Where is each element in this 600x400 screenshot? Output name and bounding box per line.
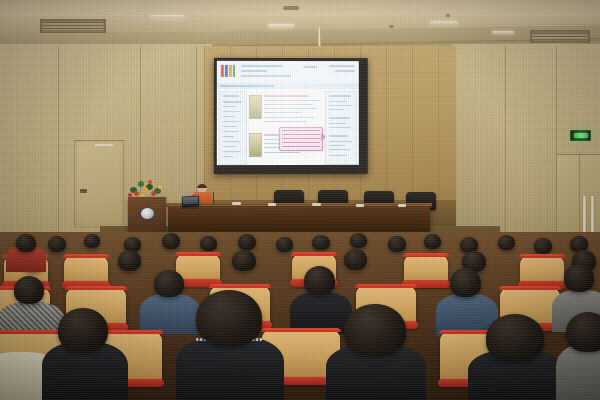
ceiling-sensor-icon [446,14,450,17]
audience-shoulders [556,344,600,400]
exit-sign [570,130,591,141]
audience-head [58,308,108,352]
audience-head [424,234,441,249]
audience-head [486,314,544,362]
audience-head [350,233,367,248]
audience-head [276,237,293,252]
presenter-laptop [182,195,199,207]
audience-head [312,235,330,250]
audience-head [534,238,552,254]
auditorium-seat[interactable] [64,256,108,286]
callout-text-rows [282,130,320,148]
auditorium-seat[interactable] [404,255,448,285]
audience-head [388,236,406,252]
audience-head [200,236,217,251]
microphone-stand [213,192,214,205]
ceiling-light [150,15,184,19]
audience-head [14,276,44,304]
audience-head [48,236,66,252]
audience-head [118,250,141,271]
ceiling-sensor-icon [389,25,394,28]
desk-paper [232,202,241,205]
door-handle-icon[interactable] [80,189,87,193]
audience-head [498,235,515,250]
ceiling-light [492,31,514,34]
ceiling-light [268,24,294,28]
exit-sign-glow [574,133,588,138]
projection-screen [217,61,359,165]
slide-header [217,61,359,84]
slide-thumbnail-image [249,95,262,119]
auditorium-photo [0,0,600,400]
wall-seam [58,46,59,236]
audience-head [196,290,262,346]
desk-paper [268,203,276,206]
audience-head [162,233,180,249]
auditorium-seat[interactable] [520,256,564,286]
slide-thumbnail-image [249,133,262,157]
door-plate [95,144,113,146]
air-vent-icon [40,19,106,33]
desk-paper [312,203,321,206]
ceiling-speaker-icon [283,6,299,10]
audience-head [232,250,256,271]
side-door[interactable] [74,140,124,228]
audience-head [238,234,256,250]
audience-head [566,312,600,352]
audience-head [344,249,367,270]
podium-emblem-icon [140,207,155,220]
laptop-screen [183,196,198,204]
desk-paper [356,204,364,207]
slide-callout-box [279,127,323,151]
site-logo-icon [221,65,235,77]
audience-head [84,234,100,248]
audience-head [450,268,481,297]
slide-right-sidebar [325,91,357,165]
audience-head [16,234,36,252]
door-split-line [579,155,580,241]
air-vent-icon [530,30,590,43]
head-table [168,205,430,235]
slide-left-sidebar [219,91,247,165]
audience-head [344,304,406,356]
audience-head [564,264,594,292]
audience-head [154,270,184,297]
slide-body [217,89,359,165]
projection-screen-frame [214,58,368,174]
audience-area [0,232,600,400]
ceiling-light [430,21,458,25]
wall-seam [505,46,506,242]
desk-paper [398,204,406,207]
audience-head [304,266,335,295]
audience-shoulders [140,294,200,334]
